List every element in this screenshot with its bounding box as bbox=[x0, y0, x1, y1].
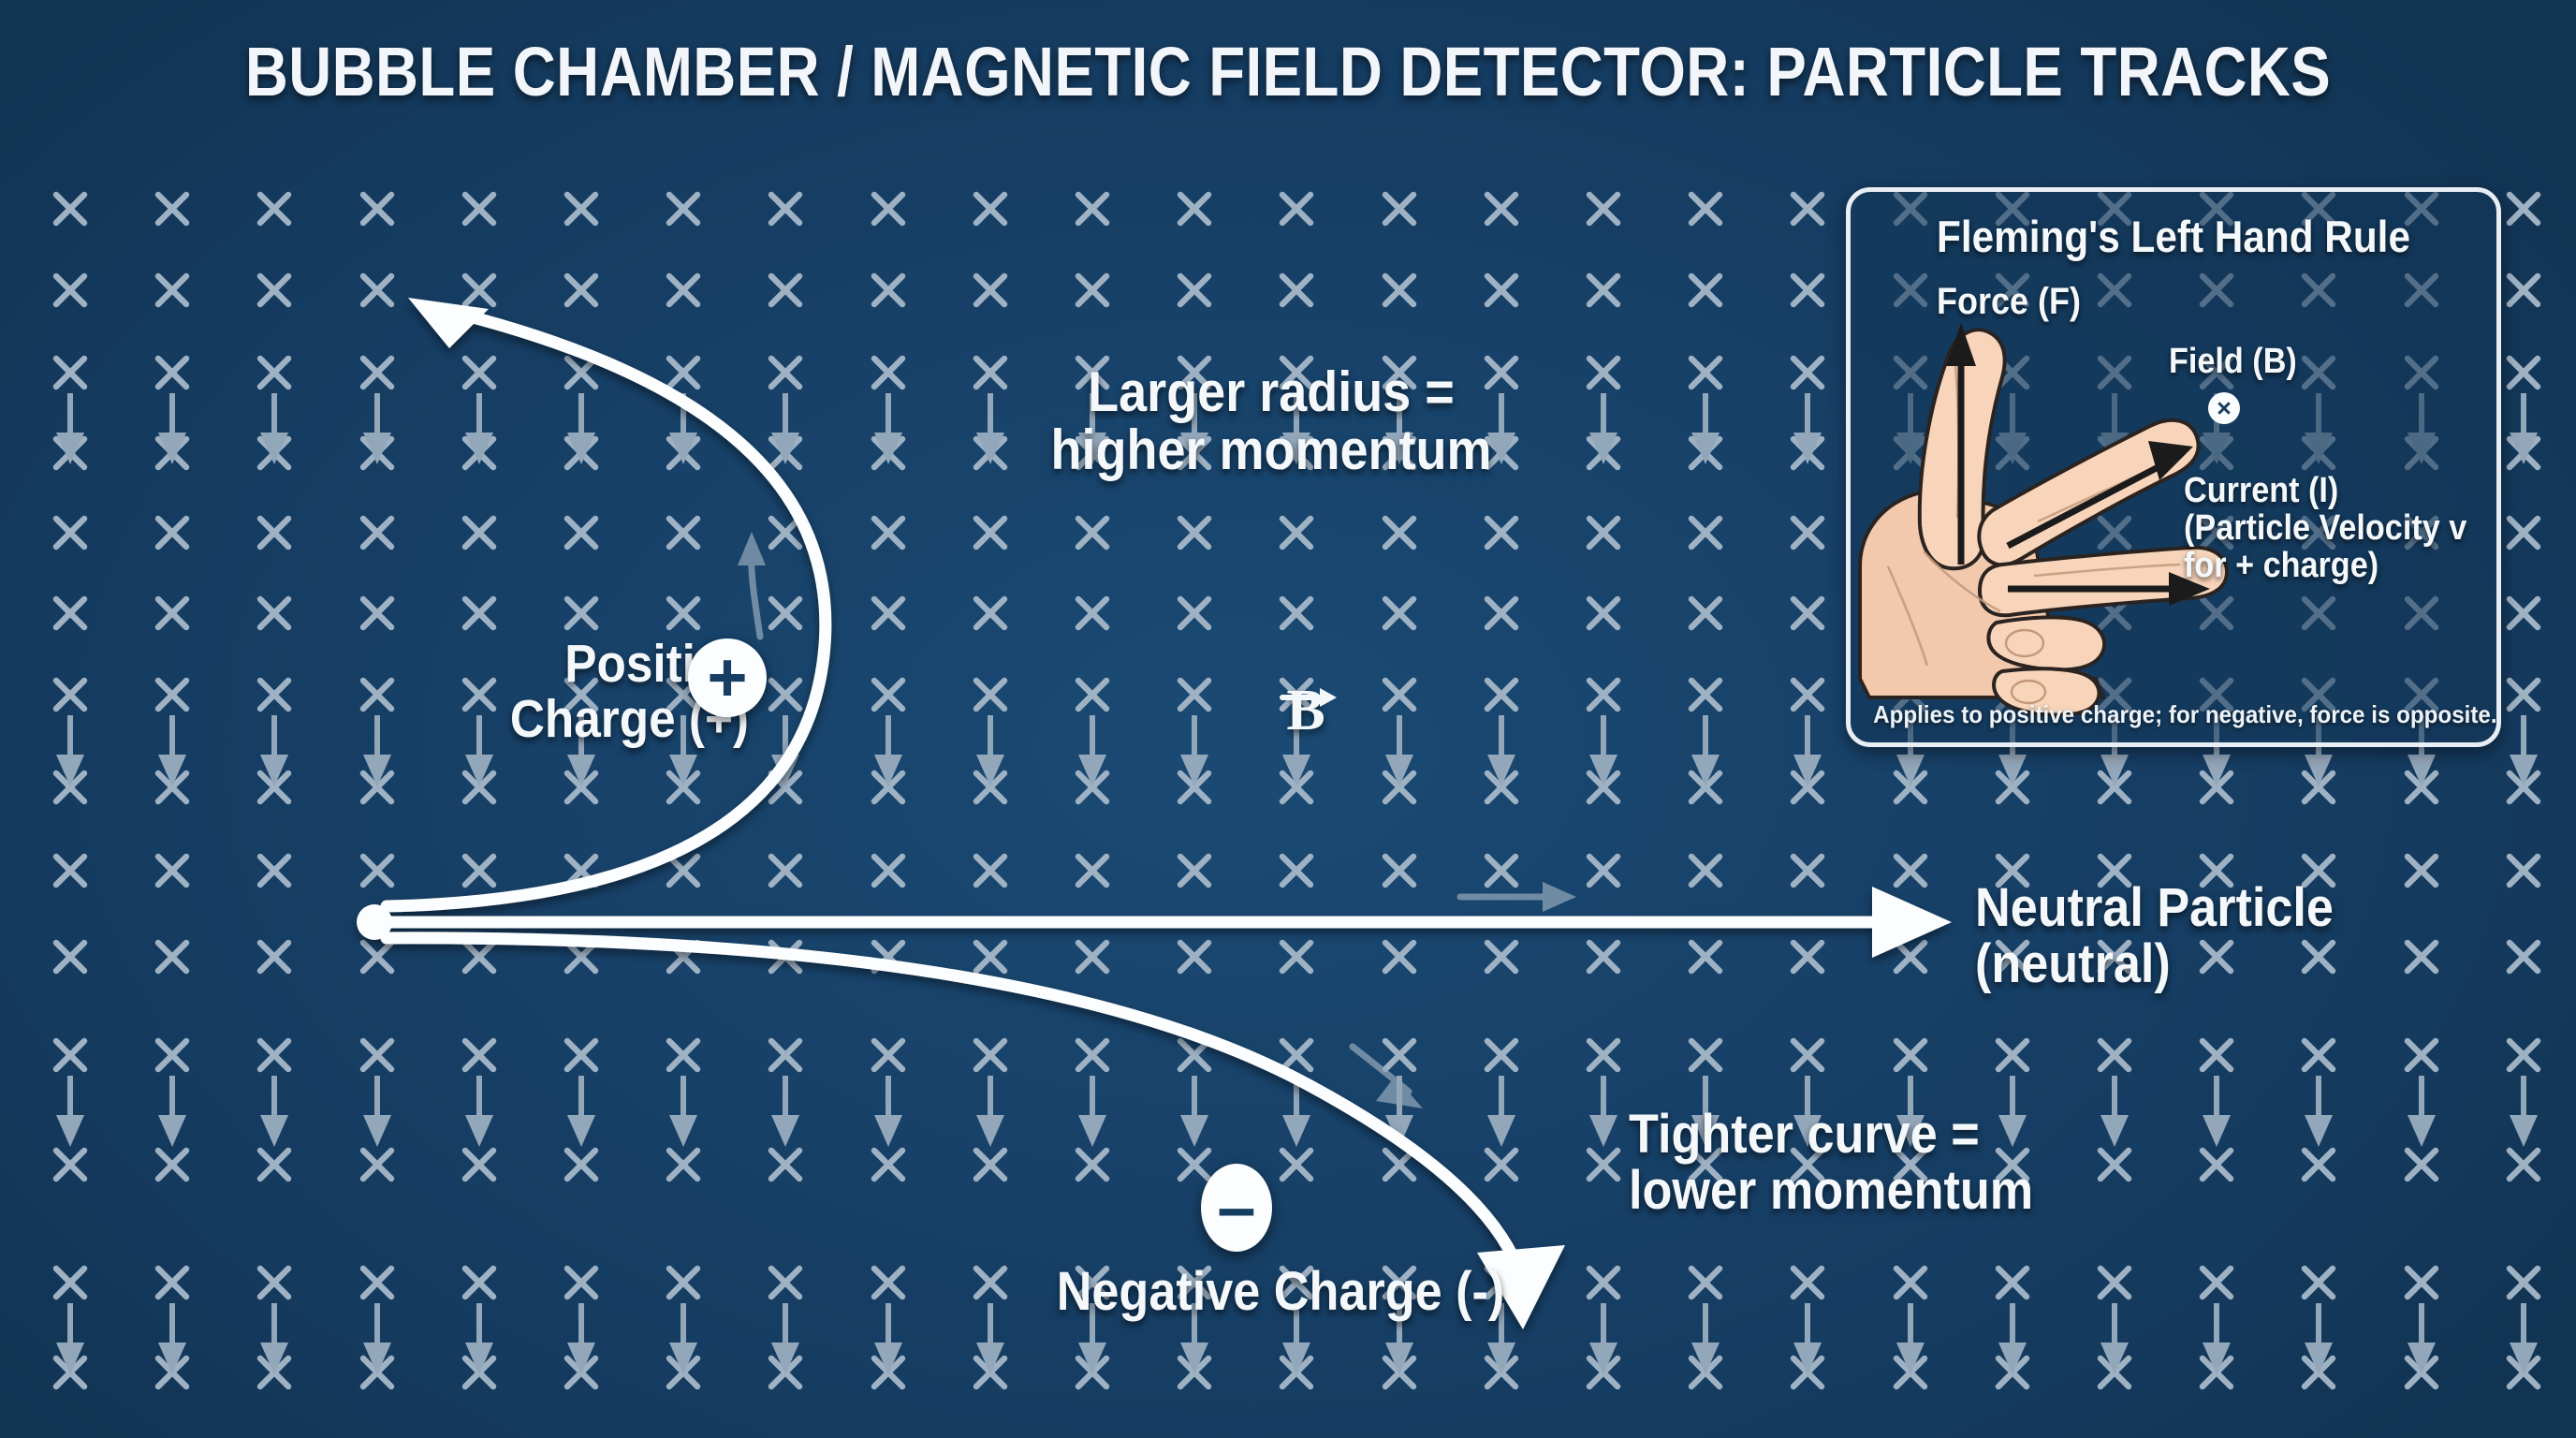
tighter-curve-line-2: lower momentum bbox=[1629, 1163, 2084, 1219]
negative-charge-badge: – bbox=[1201, 1164, 1272, 1252]
b-field-vector-symbol: B bbox=[1264, 655, 1348, 739]
positive-charge-badge: + bbox=[688, 638, 767, 717]
larger-radius-line-2: higher momentum bbox=[993, 421, 1549, 479]
annotation-negative-charge: Negative Charge (-) bbox=[1036, 1264, 1525, 1320]
negative-track bbox=[387, 938, 1518, 1269]
inset-current-label: Current (I) (Particle Velocity v for + c… bbox=[2184, 473, 2466, 585]
left-hand-illustration bbox=[1851, 192, 2496, 742]
current-line-1: Current (I) bbox=[2184, 473, 2466, 510]
field-into-page-icon: × bbox=[2208, 392, 2240, 424]
inset-footnote: Applies to positive charge; for negative… bbox=[1873, 700, 2474, 729]
larger-radius-line-1: Larger radius = bbox=[993, 363, 1549, 421]
neutral-track-arrowhead bbox=[1872, 887, 1952, 958]
diagram-canvas: BUBBLE CHAMBER / MAGNETIC FIELD DETECTOR… bbox=[0, 0, 2576, 1438]
negative-line-1: Negative Charge (-) bbox=[1036, 1264, 1525, 1320]
inset-field-label: Field (B) bbox=[2169, 344, 2297, 381]
neutral-line-2: (neutral) bbox=[1975, 936, 2497, 992]
b-vector-arrow bbox=[1264, 655, 1348, 683]
minus-icon: – bbox=[1217, 1189, 1255, 1227]
plus-icon: + bbox=[707, 650, 747, 705]
annotation-tighter-curve: Tighter curve = lower momentum bbox=[1629, 1107, 2084, 1220]
annotation-larger-radius: Larger radius = higher momentum bbox=[993, 363, 1549, 480]
cross-in-circle-glyph: × bbox=[2217, 396, 2232, 421]
annotation-neutral-particle: Neutral Particle (neutral) bbox=[1975, 880, 2497, 993]
hand-shape bbox=[1860, 330, 2227, 714]
neutral-line-1: Neutral Particle bbox=[1975, 880, 2497, 936]
positive-track bbox=[387, 309, 826, 906]
tighter-curve-line-1: Tighter curve = bbox=[1629, 1107, 2084, 1163]
flemings-left-hand-rule-inset: Fleming's Left Hand Rule bbox=[1846, 187, 2501, 747]
positive-direction-arrow bbox=[752, 558, 760, 637]
current-line-3: for + charge) bbox=[2184, 548, 2466, 585]
interaction-vertex-dot bbox=[357, 904, 392, 940]
current-line-2: (Particle Velocity v bbox=[2184, 510, 2466, 548]
inset-force-label: Force (F) bbox=[1937, 282, 2081, 321]
